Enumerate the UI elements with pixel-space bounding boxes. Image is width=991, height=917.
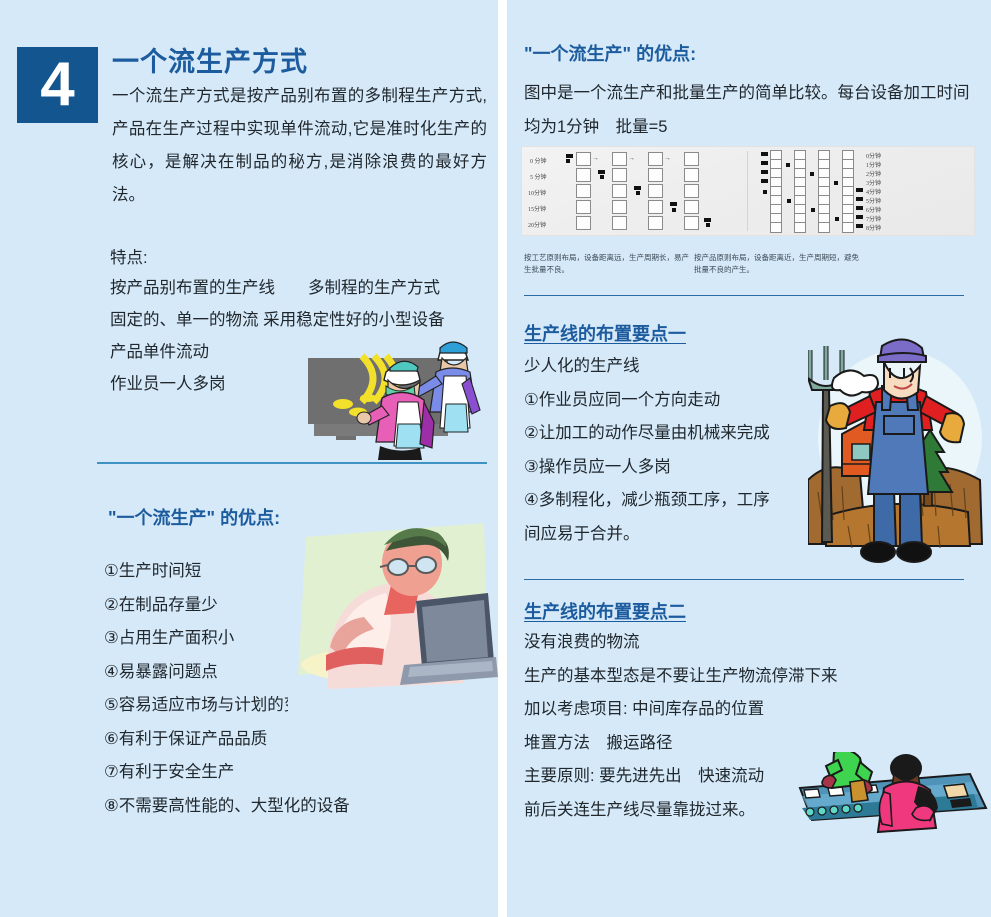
diagram-marker xyxy=(598,170,605,174)
diagram-box xyxy=(794,222,806,233)
farmer-with-pitchfork-illustration xyxy=(808,330,988,572)
point-one-item: 少人化的生产线 xyxy=(524,350,854,384)
diagram-box xyxy=(612,184,627,198)
advantages-heading: "一个流生产" 的优点: xyxy=(108,504,280,530)
diagram-marker xyxy=(763,190,767,194)
diagram-arrow-icon: → xyxy=(664,155,671,162)
point-one-item: 间应易于合并。 xyxy=(524,518,854,552)
conveyor-line-workers-illustration xyxy=(798,752,990,864)
page-title: 一个流生产方式 xyxy=(112,40,308,79)
diagram-box xyxy=(770,222,782,233)
features-label: 特点: xyxy=(110,243,148,273)
column-divider xyxy=(498,0,507,917)
diagram-marker xyxy=(670,202,677,206)
diagram-marker xyxy=(566,154,573,158)
diagram-box xyxy=(612,216,627,230)
diagram-box xyxy=(576,168,591,182)
diagram-box xyxy=(842,222,854,233)
right-divider-rule-two xyxy=(524,579,964,580)
diagram-row-label: 2分钟 xyxy=(866,169,881,178)
diagram-row-label: 20分钟 xyxy=(528,220,546,229)
point-one-item: ③操作员应一人多岗 xyxy=(524,451,854,485)
diagram-marker xyxy=(811,208,815,212)
diagram-batch-layout: 0 分钟 5 分钟 10分钟 15分钟 20分钟 → → → xyxy=(522,147,748,235)
advantage-item: ⑦有利于安全生产 xyxy=(104,756,494,790)
intro-paragraph: 一个流生产方式是按产品别布置的多制程生产方式,产品在生产过程中实现单件流动,它是… xyxy=(112,80,487,212)
diagram-box xyxy=(576,152,591,166)
diagram-box xyxy=(648,216,663,230)
advantage-item: ⑥有利于保证产品品质 xyxy=(104,723,494,757)
diagram-flow-layout: 0分钟 1分钟 2分钟 3分钟 4分钟 5分钟 6分钟 7分钟 8分钟 xyxy=(748,147,974,235)
diagram-marker xyxy=(672,208,676,212)
diagram-row-label: 3分钟 xyxy=(866,178,881,187)
diagram-marker xyxy=(856,215,863,219)
diagram-box xyxy=(684,152,699,166)
diagram-marker xyxy=(856,224,863,228)
diagram-left-caption: 按工艺原则布局，设备距离远，生产周期长，易产生批量不良。 xyxy=(524,252,689,276)
diagram-box xyxy=(684,200,699,214)
diagram-row-label: 6分钟 xyxy=(866,205,881,214)
diagram-marker xyxy=(706,223,710,227)
point-one-item: ④多制程化，减少瓶颈工序，工序 xyxy=(524,484,854,518)
point-two-heading: 生产线的布置要点二 xyxy=(524,598,686,624)
diagram-row-label: 5 分钟 xyxy=(530,172,547,181)
diagram-box xyxy=(818,222,830,233)
diagram-box xyxy=(612,152,627,166)
diagram-row-label: 0分钟 xyxy=(866,151,881,160)
comparison-paragraph: 图中是一个流生产和批量生产的简单比较。每台设备加工时间均为1分钟 批量=5 xyxy=(524,76,972,144)
diagram-row-label: 8分钟 xyxy=(866,223,881,232)
diagram-row-label: 1分钟 xyxy=(866,160,881,169)
point-one-list: 少人化的生产线 ①作业员应同一个方向走动 ②让加工的动作尽量由机械来完成 ③操作… xyxy=(524,350,854,551)
diagram-marker xyxy=(761,179,768,183)
diagram-box xyxy=(612,200,627,214)
man-at-laptop-illustration xyxy=(288,515,498,715)
diagram-right-caption: 按产品原则布局，设备距离近，生产周期短，避免批量不良的产生。 xyxy=(694,252,859,276)
diagram-marker xyxy=(600,175,604,179)
point-two-item: 没有浪费的物流 xyxy=(524,626,984,660)
advantage-item: ⑧不需要高性能的、大型化的设备 xyxy=(104,790,494,824)
diagram-box xyxy=(684,184,699,198)
diagram-box xyxy=(648,168,663,182)
diagram-marker xyxy=(856,206,863,210)
diagram-marker xyxy=(786,163,790,167)
diagram-marker xyxy=(810,172,814,176)
diagram-marker xyxy=(634,186,641,190)
diagram-row-label: 4分钟 xyxy=(866,187,881,196)
factory-workers-illustration xyxy=(298,328,498,463)
diagram-row-label: 15分钟 xyxy=(528,204,546,213)
diagram-marker xyxy=(761,170,768,174)
flow-comparison-diagram: 0 分钟 5 分钟 10分钟 15分钟 20分钟 → → → xyxy=(521,146,975,236)
diagram-arrow-icon: → xyxy=(592,155,599,162)
diagram-row-label: 7分钟 xyxy=(866,214,881,223)
diagram-row-label: 5分钟 xyxy=(866,196,881,205)
diagram-box xyxy=(612,168,627,182)
diagram-box xyxy=(684,168,699,182)
point-one-heading: 生产线的布置要点一 xyxy=(524,320,686,346)
point-one-item: ②让加工的动作尽量由机械来完成 xyxy=(524,417,854,451)
diagram-arrow-icon: → xyxy=(628,155,635,162)
left-divider-rule xyxy=(97,462,487,464)
diagram-box xyxy=(684,216,699,230)
section-number-badge: 4 xyxy=(17,47,98,123)
diagram-box xyxy=(648,200,663,214)
point-two-item: 加以考虑项目: 中间库存品的位置 xyxy=(524,693,984,727)
diagram-marker xyxy=(835,217,839,221)
diagram-marker xyxy=(761,152,768,156)
point-two-item: 生产的基本型态是不要让生产物流停滞下来 xyxy=(524,660,984,694)
comparison-heading: "一个流生产" 的优点: xyxy=(524,40,696,66)
diagram-marker xyxy=(566,159,570,163)
diagram-marker xyxy=(761,161,768,165)
diagram-box xyxy=(576,216,591,230)
left-column: 4 一个流生产方式 一个流生产方式是按产品别布置的多制程生产方式,产品在生产过程… xyxy=(0,0,498,917)
slide-page: 4 一个流生产方式 一个流生产方式是按产品别布置的多制程生产方式,产品在生产过程… xyxy=(0,0,991,917)
diagram-marker xyxy=(636,191,640,195)
diagram-marker xyxy=(704,218,711,222)
diagram-row-label: 10分钟 xyxy=(528,188,546,197)
diagram-marker xyxy=(856,197,863,201)
feature-line: 按产品别布置的生产线 多制程的生产方式 xyxy=(110,272,495,304)
diagram-box xyxy=(648,184,663,198)
diagram-marker xyxy=(834,181,838,185)
point-one-item: ①作业员应同一个方向走动 xyxy=(524,384,854,418)
diagram-box xyxy=(648,152,663,166)
diagram-marker xyxy=(856,188,863,192)
diagram-row-label: 0 分钟 xyxy=(530,156,547,165)
right-divider-rule-one xyxy=(524,295,964,296)
diagram-box xyxy=(576,184,591,198)
diagram-marker xyxy=(787,199,791,203)
diagram-box xyxy=(576,200,591,214)
